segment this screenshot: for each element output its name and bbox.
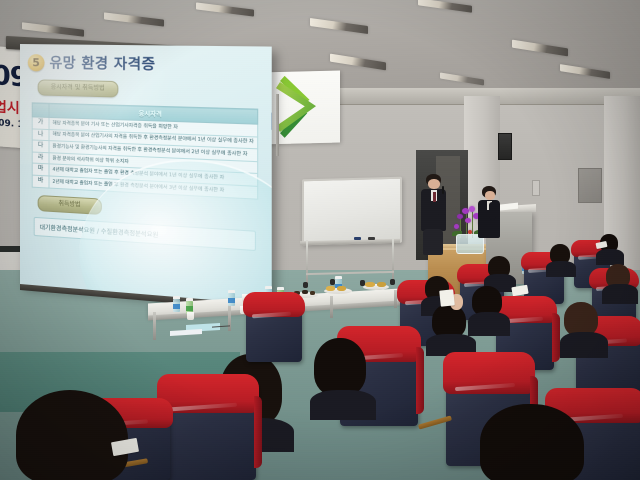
slide-title: 유망 환경 자격증 (49, 52, 155, 74)
speaker-face (428, 179, 440, 189)
bottle-label (228, 298, 235, 303)
row-key: 다 (32, 140, 49, 152)
snack-item (326, 286, 335, 291)
table-leg (153, 312, 156, 340)
presentation-slide: 5 유망 환경 자격증 응시자격 및 취득방법 응시자격 가 해당 (20, 44, 272, 305)
audience-member (548, 244, 576, 276)
audience-hair (480, 404, 584, 480)
snack-item (365, 282, 375, 287)
seat[interactable] (246, 296, 302, 362)
bottle-label (173, 304, 180, 309)
snack-item (302, 290, 308, 294)
audience-member-front-left (16, 390, 146, 480)
water-bottle (228, 290, 235, 306)
whiteboard-leg (392, 238, 394, 280)
orchid-bloom (454, 224, 459, 229)
audience-shoulders (468, 312, 510, 336)
slide-pill-top: 응시자격 및 취득방법 (38, 79, 119, 97)
audience-shoulders (546, 261, 576, 277)
snack-item (337, 286, 346, 291)
row-key: 라 (32, 152, 49, 164)
audience-member (598, 234, 624, 264)
row-key: 나 (32, 129, 49, 141)
row-key: 가 (32, 117, 49, 129)
snack-item (377, 282, 386, 287)
handout-paper (439, 289, 455, 306)
speaker-arm (438, 194, 445, 216)
light-switch[interactable] (532, 180, 540, 196)
bottle-label (186, 306, 193, 311)
audience-member (560, 302, 606, 356)
whiteboard-marker (368, 237, 375, 240)
lecture-hall-photo: 09 업시 009. 11. 수회 전략토론 한국 환경공학과 5 유망 환경 … (0, 0, 640, 480)
row-key: 바 (32, 175, 49, 188)
seat[interactable] (160, 378, 256, 480)
whiteboard (302, 177, 402, 246)
audience-member (310, 338, 374, 418)
audience-shoulders (560, 332, 608, 358)
row-key: 마 (32, 163, 49, 175)
podium-person-face (485, 191, 495, 200)
microphone-icon (442, 186, 444, 194)
table-leg (330, 296, 333, 318)
podium-person-arm (489, 202, 496, 220)
orchid-bloom (457, 214, 463, 219)
audience-member-front-right (480, 404, 598, 480)
orchid-bloom (462, 208, 469, 214)
table-header-key (32, 103, 49, 118)
audience-member (468, 286, 508, 334)
snack-item (310, 291, 315, 295)
audience-shoulders (596, 249, 624, 265)
paper-cup (187, 312, 194, 320)
speaker-presenter (418, 174, 452, 256)
whiteboard-caster (303, 282, 308, 288)
water-bottle (173, 296, 180, 312)
audience-shoulders (602, 284, 638, 304)
speaker-legs (423, 229, 443, 255)
banner-hanging-rod (276, 94, 279, 156)
speaker-tie (433, 192, 436, 202)
wall-notice-panel (578, 168, 602, 203)
audience-member (602, 264, 636, 304)
whiteboard-marker (354, 237, 361, 240)
audience-hair (16, 390, 128, 480)
podium-person (478, 186, 504, 256)
orchid-bloom (469, 206, 475, 212)
audience-hair (564, 302, 598, 336)
whiteboard-leg (306, 240, 308, 284)
audience-hair (314, 338, 366, 396)
audience-shoulders (310, 390, 376, 420)
whiteboard-caster (390, 279, 395, 285)
audience-member-raised-hand (426, 292, 474, 352)
wall-speaker-icon (498, 133, 512, 160)
orchid-bloom (465, 218, 471, 223)
banner-left-red-text: 업시 (0, 96, 20, 118)
table-leg (228, 305, 231, 331)
slide-number-badge: 5 (28, 54, 45, 71)
audience-hair (432, 304, 466, 338)
audience-member (486, 256, 516, 290)
projection-screen: 5 유망 환경 자격증 응시자격 및 취득방법 응시자격 가 해당 (20, 44, 272, 305)
